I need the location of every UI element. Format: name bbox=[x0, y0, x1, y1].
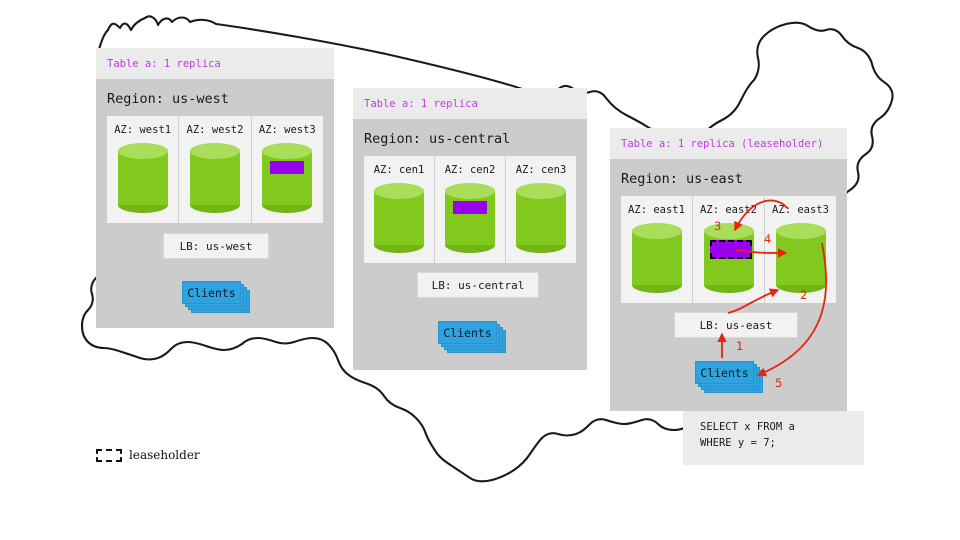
region-title-us-central: Region: us-central bbox=[353, 119, 587, 156]
table-replica-label: Table a: 1 replica (leaseholder) bbox=[621, 138, 823, 150]
node-cylinder-cen3[interactable] bbox=[516, 183, 566, 253]
node-cylinder-cen2[interactable] bbox=[445, 183, 495, 253]
az-cell-east3[interactable]: AZ: east3 bbox=[764, 196, 836, 303]
az-label: AZ: east3 bbox=[772, 204, 829, 216]
load-balancer-us-east[interactable]: LB: us-east bbox=[674, 312, 798, 338]
az-label: AZ: west1 bbox=[114, 124, 171, 136]
step-number-3: 3 bbox=[714, 219, 721, 233]
az-cell-west1[interactable]: AZ: west1 bbox=[107, 116, 178, 223]
region-panel-us-central: Table a: 1 replica Region: us-central AZ… bbox=[353, 88, 587, 370]
replica-block-west3[interactable] bbox=[270, 161, 304, 174]
step-number-5: 5 bbox=[775, 376, 782, 390]
clients-stack-us-central[interactable]: Clients bbox=[438, 321, 504, 351]
clients-stack-us-west[interactable]: Clients bbox=[182, 281, 248, 311]
clients-label[interactable]: Clients bbox=[182, 281, 241, 304]
table-replica-label: Table a: 1 replica bbox=[107, 58, 221, 70]
step-number-1: 1 bbox=[736, 339, 743, 353]
lb-label: LB: us-east bbox=[700, 319, 773, 332]
region-title-us-west: Region: us-west bbox=[96, 79, 334, 116]
node-cylinder-east2[interactable] bbox=[704, 223, 754, 293]
az-cell-west3[interactable]: AZ: west3 bbox=[251, 116, 323, 223]
lb-label: LB: us-west bbox=[180, 240, 253, 253]
table-replica-label: Table a: 1 replica bbox=[364, 98, 478, 110]
az-cell-cen2[interactable]: AZ: cen2 bbox=[434, 156, 505, 263]
lb-label: LB: us-central bbox=[432, 279, 525, 292]
region-panel-us-west: Table a: 1 replica Region: us-west AZ: w… bbox=[96, 48, 334, 328]
legend-label: leaseholder bbox=[129, 448, 200, 462]
az-cell-cen1[interactable]: AZ: cen1 bbox=[364, 156, 434, 263]
node-cylinder-west3[interactable] bbox=[262, 143, 312, 213]
load-balancer-us-west[interactable]: LB: us-west bbox=[163, 233, 269, 259]
az-row-us-east: AZ: east1 AZ: east2 AZ: east3 bbox=[621, 196, 836, 303]
az-label: AZ: east2 bbox=[700, 204, 757, 216]
dashed-rectangle-icon bbox=[96, 449, 122, 462]
replica-block-cen2[interactable] bbox=[453, 201, 487, 214]
diagram-canvas: Table a: 1 replica Region: us-west AZ: w… bbox=[0, 0, 960, 540]
step-number-4: 4 bbox=[764, 232, 771, 246]
clients-stack-us-east[interactable]: Clients bbox=[695, 361, 761, 391]
clients-label[interactable]: Clients bbox=[695, 361, 754, 384]
panel-header-us-west: Table a: 1 replica bbox=[96, 48, 334, 79]
node-cylinder-east3[interactable] bbox=[776, 223, 826, 293]
node-cylinder-cen1[interactable] bbox=[374, 183, 424, 253]
az-label: AZ: west3 bbox=[259, 124, 316, 136]
az-cell-east2[interactable]: AZ: east2 bbox=[692, 196, 764, 303]
region-panel-us-east: Table a: 1 replica (leaseholder) Region:… bbox=[610, 128, 847, 411]
az-label: AZ: cen2 bbox=[445, 164, 496, 176]
az-label: AZ: cen3 bbox=[516, 164, 567, 176]
node-cylinder-west1[interactable] bbox=[118, 143, 168, 213]
az-row-us-west: AZ: west1 AZ: west2 AZ: west3 bbox=[107, 116, 323, 223]
sql-query-box: SELECT x FROM a WHERE y = 7; bbox=[683, 411, 864, 465]
step-number-2: 2 bbox=[800, 288, 807, 302]
az-label: AZ: west2 bbox=[187, 124, 244, 136]
clients-label[interactable]: Clients bbox=[438, 321, 497, 344]
az-cell-cen3[interactable]: AZ: cen3 bbox=[505, 156, 576, 263]
panel-header-us-east: Table a: 1 replica (leaseholder) bbox=[610, 128, 847, 159]
load-balancer-us-central[interactable]: LB: us-central bbox=[417, 272, 539, 298]
node-cylinder-west2[interactable] bbox=[190, 143, 240, 213]
az-cell-east1[interactable]: AZ: east1 bbox=[621, 196, 692, 303]
region-title-us-east: Region: us-east bbox=[610, 159, 847, 196]
node-cylinder-east1[interactable] bbox=[632, 223, 682, 293]
az-row-us-central: AZ: cen1 AZ: cen2 AZ: cen3 bbox=[364, 156, 576, 263]
az-cell-west2[interactable]: AZ: west2 bbox=[178, 116, 250, 223]
leaseholder-replica-block-east2[interactable] bbox=[710, 240, 752, 259]
az-label: AZ: east1 bbox=[628, 204, 685, 216]
legend: leaseholder bbox=[96, 448, 200, 462]
az-label: AZ: cen1 bbox=[374, 164, 425, 176]
panel-header-us-central: Table a: 1 replica bbox=[353, 88, 587, 119]
